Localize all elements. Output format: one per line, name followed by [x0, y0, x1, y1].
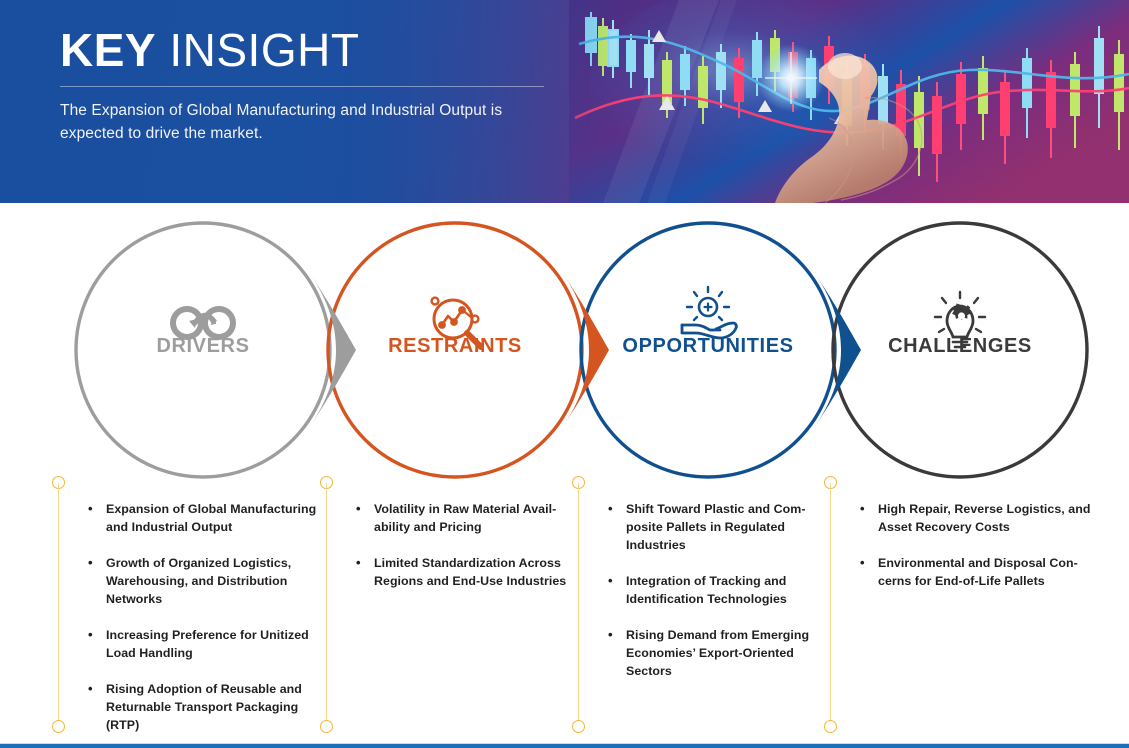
stock-chart-artwork	[569, 0, 1129, 203]
header-banner: KEY INSIGHT The Expansion of Global Manu…	[0, 0, 1129, 203]
bullet-column-restraints: Volatility in Raw Material Avail-ability…	[350, 501, 580, 609]
rail-line	[830, 483, 831, 726]
list-item: Growth of Organized Logistics, Warehousi…	[82, 555, 327, 609]
node-label-drivers: DRIVERS	[103, 335, 303, 358]
list-item: Rising Adoption of Reusable and Returnab…	[82, 681, 327, 735]
page-title: KEY INSIGHT	[60, 26, 580, 74]
bullet-list-challenges: High Repair, Reverse Logistics, and Asse…	[854, 501, 1094, 591]
title-bold: KEY	[60, 24, 156, 76]
list-item: Volatility in Raw Material Avail-ability…	[350, 501, 580, 537]
list-item: High Repair, Reverse Logistics, and Asse…	[854, 501, 1094, 537]
hand-holding-idea-icon	[682, 287, 736, 338]
node-label-restraints: RESTRAINTS	[355, 335, 555, 358]
bullet-list-drivers: Expansion of Global Manufacturing and In…	[82, 501, 327, 735]
bullet-list-opportunities: Shift Toward Plastic and Com-posite Pall…	[602, 501, 827, 681]
node-circles-layer: DRIVERS RESTRAINTS OPPORTUNITIES CHALLEN…	[0, 203, 1129, 493]
rail-dot-bottom	[824, 720, 837, 733]
header-title-block: KEY INSIGHT The Expansion of Global Manu…	[60, 26, 580, 145]
bullet-column-challenges: High Repair, Reverse Logistics, and Asse…	[854, 501, 1094, 609]
bullet-column-opportunities: Shift Toward Plastic and Com-posite Pall…	[602, 501, 827, 699]
node-label-challenges: CHALLENGES	[860, 335, 1060, 358]
rail-dot-bottom	[572, 720, 585, 733]
list-item: Environmental and Disposal Con-cerns for…	[854, 555, 1094, 591]
title-light	[156, 24, 169, 76]
rail-line	[58, 483, 59, 726]
list-item: Integration of Tracking and Identificati…	[602, 573, 827, 609]
key-insight-infographic: KEY INSIGHT The Expansion of Global Manu…	[0, 0, 1129, 748]
header-subtitle: The Expansion of Global Manufacturing an…	[60, 100, 565, 145]
title-divider	[60, 86, 544, 87]
bullet-column-drivers: Expansion of Global Manufacturing and In…	[82, 501, 327, 748]
content-stage: DRIVERS RESTRAINTS OPPORTUNITIES CHALLEN…	[0, 203, 1129, 748]
list-item: Expansion of Global Manufacturing and In…	[82, 501, 327, 537]
footer-rule	[0, 744, 1129, 748]
divider-rail-1	[52, 476, 66, 733]
list-item: Rising Demand from Emerging Economies’ E…	[602, 627, 827, 681]
node-label-opportunities: OPPORTUNITIES	[593, 335, 823, 358]
rail-dot-bottom	[52, 720, 65, 733]
list-item: Increasing Preference for Unitized Load …	[82, 627, 327, 663]
bullet-list-restraints: Volatility in Raw Material Avail-ability…	[350, 501, 580, 591]
list-item: Limited Standardization Across Regions a…	[350, 555, 580, 591]
list-item: Shift Toward Plastic and Com-posite Pall…	[602, 501, 827, 555]
title-light-word: INSIGHT	[169, 24, 359, 76]
